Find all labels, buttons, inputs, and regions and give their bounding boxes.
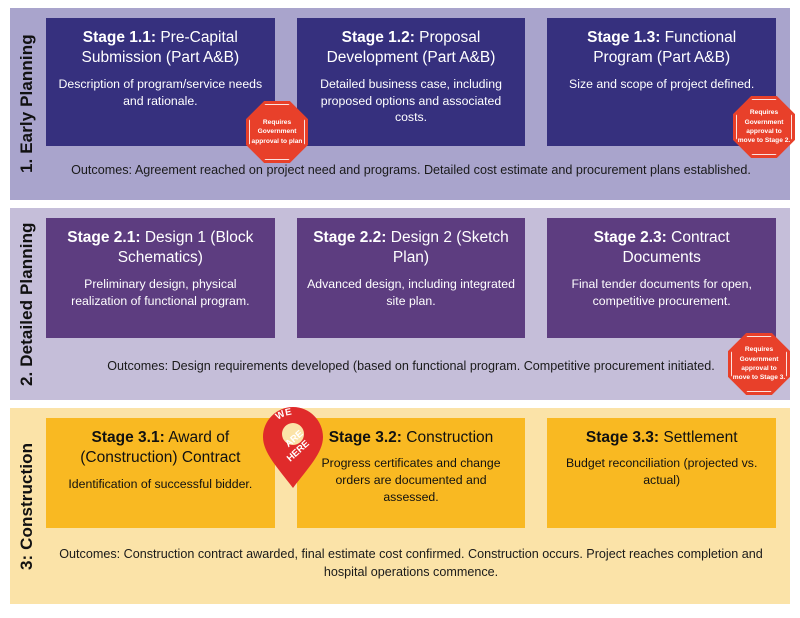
stage-card-2-2-title-strong: Stage 2.2: (313, 229, 386, 246)
stage-card-2-3-title-strong: Stage 2.3: (594, 229, 667, 246)
stage-card-3-1-title: Stage 3.1: Award of (Construction) Contr… (56, 428, 265, 469)
stop-sign-icon-approval-stage-2-text: Requires Government approval to move to … (737, 108, 791, 145)
stage-card-1-2-title: Stage 1.2: Proposal Development (Part A&… (307, 28, 516, 69)
stage-card-2-1-desc: Preliminary design, physical realization… (56, 276, 265, 309)
stage-card-3-1[interactable]: Stage 3.1: Award of (Construction) Contr… (46, 418, 275, 528)
stage-card-3-3[interactable]: Stage 3.3: Settlement Budget reconciliat… (547, 418, 776, 528)
stage-card-1-1-desc: Description of program/service needs and… (56, 76, 265, 109)
band-body-detailed-planning: Stage 2.1: Design 1 (Block Schematics) P… (44, 208, 790, 400)
stage-card-1-2-desc: Detailed business case, including propos… (307, 76, 516, 126)
stage-card-2-2-title: Stage 2.2: Design 2 (Sketch Plan) (307, 228, 516, 269)
stage-card-3-1-title-strong: Stage 3.1: (92, 429, 165, 446)
stage-card-1-1-title: Stage 1.1: Pre-Capital Submission (Part … (56, 28, 265, 69)
stage-card-2-2-desc: Advanced design, including integrated si… (307, 276, 516, 309)
outcomes-construction: Outcomes: Construction contract awarded,… (46, 528, 776, 598)
stop-sign-icon-approval-stage-3: Requires Government approval to move to … (728, 333, 790, 395)
stage-card-3-3-desc: Budget reconciliation (projected vs. act… (557, 455, 766, 488)
stage-card-1-3-title-strong: Stage 1.3: (587, 29, 660, 46)
band-label-construction: 3: Construction (10, 408, 44, 604)
stage-card-1-3-title: Stage 1.3: Functional Program (Part A&B) (557, 28, 766, 69)
outcomes-detailed-planning: Outcomes: Design requirements developed … (46, 338, 776, 394)
band-detailed-planning: 2. Detailed Planning Stage 2.1: Design 1… (10, 208, 790, 400)
stage-card-2-2[interactable]: Stage 2.2: Design 2 (Sketch Plan) Advanc… (297, 218, 526, 338)
stage-card-3-2[interactable]: Stage 3.2: Construction Progress certifi… (297, 418, 526, 528)
stage-card-3-3-title-rest: Settlement (659, 429, 737, 446)
stage-card-1-1[interactable]: Stage 1.1: Pre-Capital Submission (Part … (46, 18, 275, 146)
stage-card-3-2-title-strong: Stage 3.2: (329, 429, 402, 446)
stage-card-3-2-desc: Progress certificates and change orders … (307, 455, 516, 505)
stage-card-2-1[interactable]: Stage 2.1: Design 1 (Block Schematics) P… (46, 218, 275, 338)
stage-card-1-1-title-strong: Stage 1.1: (83, 29, 156, 46)
band-early-planning: 1. Early Planning Stage 1.1: Pre-Capital… (10, 8, 790, 200)
cards-row-early-planning: Stage 1.1: Pre-Capital Submission (Part … (46, 18, 776, 146)
stage-card-3-2-title-rest: Construction (402, 429, 493, 446)
stage-card-2-1-title-strong: Stage 2.1: (67, 229, 140, 246)
stop-sign-icon-approval-plan: Requires Government approval to plan (246, 101, 308, 163)
cards-row-construction: Stage 3.1: Award of (Construction) Contr… (46, 418, 776, 528)
stage-card-2-3[interactable]: Stage 2.3: Contract Documents Final tend… (547, 218, 776, 338)
band-construction: 3: Construction Stage 3.1: Award of (Con… (10, 408, 790, 604)
cards-row-detailed-planning: Stage 2.1: Design 1 (Block Schematics) P… (46, 218, 776, 338)
stop-sign-icon-approval-plan-text: Requires Government approval to plan (250, 118, 304, 146)
stage-card-3-2-title: Stage 3.2: Construction (307, 428, 516, 448)
stage-card-1-2[interactable]: Stage 1.2: Proposal Development (Part A&… (297, 18, 526, 146)
stage-card-3-1-desc: Identification of successful bidder. (56, 476, 265, 493)
band-body-early-planning: Stage 1.1: Pre-Capital Submission (Part … (44, 8, 790, 200)
stage-card-3-3-title: Stage 3.3: Settlement (557, 428, 766, 448)
stage-card-2-1-title: Stage 2.1: Design 1 (Block Schematics) (56, 228, 265, 269)
stage-card-1-2-title-strong: Stage 1.2: (342, 29, 415, 46)
stop-sign-icon-approval-stage-2: Requires Government approval to move to … (733, 96, 795, 158)
band-label-early-planning: 1. Early Planning (10, 8, 44, 200)
band-body-construction: Stage 3.1: Award of (Construction) Contr… (44, 408, 790, 604)
project-stages-diagram: 1. Early Planning Stage 1.1: Pre-Capital… (0, 0, 800, 618)
outcomes-early-planning: Outcomes: Agreement reached on project n… (46, 146, 776, 194)
stage-card-2-3-title: Stage 2.3: Contract Documents (557, 228, 766, 269)
stage-card-2-3-desc: Final tender documents for open, competi… (557, 276, 766, 309)
stage-card-3-3-title-strong: Stage 3.3: (586, 429, 659, 446)
stop-sign-icon-approval-stage-3-text: Requires Government approval to move to … (732, 345, 786, 382)
band-label-detailed-planning: 2. Detailed Planning (10, 208, 44, 400)
stage-card-1-3-desc: Size and scope of project defined. (557, 76, 766, 93)
stage-card-2-2-title-rest: Design 2 (Sketch Plan) (386, 229, 508, 266)
